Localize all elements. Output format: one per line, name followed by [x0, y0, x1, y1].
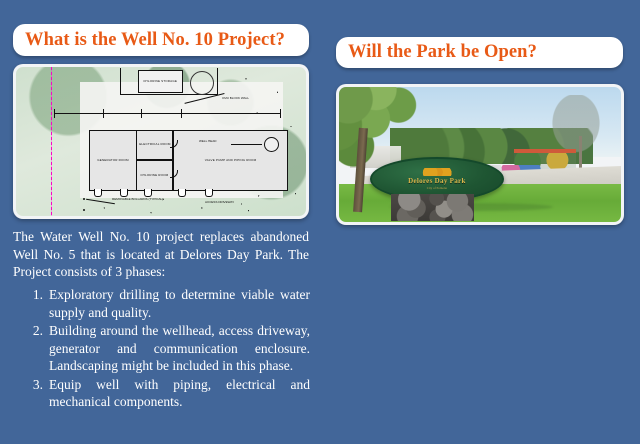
list-item: 2. Building around the wellhead, access … — [27, 322, 310, 375]
property-line-left — [51, 67, 53, 216]
bollards-label: REMOVABLE BOLLARDS (TYPICAL) — [112, 198, 163, 201]
park-sign-crest-icon — [420, 168, 454, 175]
bollard-symbol — [178, 189, 186, 197]
site-plan-drawing: CHLORINE STORAGE GENERATOR ROOM — [16, 67, 306, 216]
dimension-tick — [103, 109, 104, 118]
room-valve-pump-piping-label: VALVE PUMP AND PIPING ROOM — [204, 158, 255, 162]
room-chlorine: CHLORINE ROOM — [136, 160, 173, 191]
right-column: Will the Park be Open? — [320, 0, 640, 444]
room-chlorine-storage-label: CHLORINE STORAGE — [144, 79, 178, 83]
bollard-symbol — [94, 189, 102, 197]
left-panel-paragraph: The Water Well No. 10 project replaces a… — [13, 228, 309, 281]
left-panel-title-box: What is the Well No. 10 Project? — [13, 24, 309, 56]
dimension-tick — [141, 109, 142, 118]
dimension-tick — [54, 109, 55, 118]
cmu-wall-label: CMU BLOCK WALL — [222, 97, 249, 101]
park-photo-image: Delores Day Park City of Pomona — [339, 87, 621, 222]
well-head-symbol — [264, 137, 279, 152]
list-item: 3. Equip well with piping, electrical an… — [27, 376, 310, 411]
right-panel-title: Will the Park be Open? — [348, 42, 537, 63]
room-generator-label: GENERATOR ROOM — [97, 158, 128, 162]
dimension-line — [54, 113, 280, 114]
site-plan-image: CHLORINE STORAGE GENERATOR ROOM — [16, 67, 306, 216]
bollard-dot — [83, 198, 85, 200]
room-generator: GENERATOR ROOM — [89, 130, 137, 192]
bollard-dot — [83, 209, 85, 211]
well-head-leader-line — [231, 144, 263, 145]
park-sign: Delores Day Park City of Pomona — [370, 157, 500, 219]
room-chlorine-label: CHLORINE ROOM — [141, 174, 169, 178]
right-panel-title-box: Will the Park be Open? — [336, 37, 623, 68]
list-item-text: Building around the wellhead, access dri… — [49, 323, 310, 373]
flyer-page: What is the Well No. 10 Project? CHLORIN… — [0, 0, 640, 444]
bollard-symbol — [205, 189, 213, 197]
list-item-number: 1. — [27, 286, 43, 304]
list-item-number: 3. — [27, 376, 43, 394]
list-item-text: Equip well with piping, electrical and m… — [49, 377, 310, 410]
delores-day-park-photo: Delores Day Park City of Pomona — [339, 87, 621, 222]
park-sign-stone-base — [391, 194, 474, 220]
left-column: What is the Well No. 10 Project? CHLORIN… — [0, 0, 320, 444]
room-chlorine-storage: CHLORINE STORAGE — [138, 70, 184, 93]
list-item: 1. Exploratory drilling to determine via… — [27, 286, 310, 321]
well-head-label: WELL HEAD — [199, 140, 216, 144]
project-phases-list: 1. Exploratory drilling to determine via… — [27, 286, 310, 412]
room-electrical: ELECTRICAL ROOM — [136, 130, 173, 160]
park-photo-frame: Delores Day Park City of Pomona — [336, 84, 624, 225]
park-sign-text: Delores Day Park — [408, 177, 466, 185]
park-sign-subtext: City of Pomona — [427, 186, 447, 190]
dimension-tick — [280, 109, 281, 118]
access-driveway-label: ACCESS DRIVEWAY — [205, 201, 234, 205]
list-item-text: Exploratory drilling to determine viable… — [49, 287, 310, 320]
left-panel-title: What is the Well No. 10 Project? — [25, 30, 285, 51]
site-plan-figure-frame: CHLORINE STORAGE GENERATOR ROOM — [13, 64, 309, 219]
list-item-number: 2. — [27, 322, 43, 340]
dimension-tick — [181, 109, 182, 118]
room-electrical-label: ELECTRICAL ROOM — [139, 143, 170, 147]
